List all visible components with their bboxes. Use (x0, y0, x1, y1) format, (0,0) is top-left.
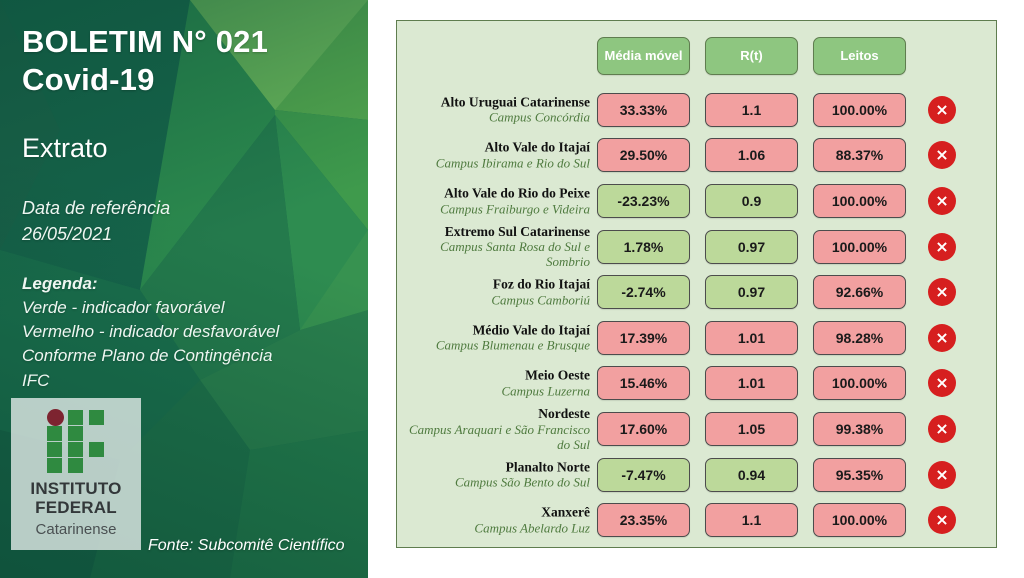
cell-media-movel[interactable]: 33.33% (597, 93, 690, 127)
cell-leitos[interactable]: 100.00% (813, 184, 906, 218)
table-row: Extremo Sul CatarinenseCampus Santa Rosa… (397, 224, 998, 270)
table-row: Alto Vale do ItajaíCampus Ibirama e Rio … (397, 133, 998, 179)
region-campus: Campus Camboriú (398, 292, 590, 307)
region-label: Alto Vale do ItajaíCampus Ibirama e Rio … (398, 140, 590, 171)
ifc-logo-square (68, 426, 83, 441)
x-circle-icon[interactable] (928, 369, 956, 397)
table-row: NordesteCampus Araquari e São Francisco … (397, 406, 998, 452)
x-circle-icon[interactable] (928, 278, 956, 306)
slide-root: BOLETIM N° 021 Covid-19 Extrato Data de … (0, 0, 1024, 578)
ifc-logo-square (89, 442, 104, 457)
column-header-leitos[interactable]: Leitos (813, 37, 906, 75)
region-campus: Campus Concórdia (398, 110, 590, 125)
ifc-logo-text-catarinense: Catarinense (36, 521, 117, 538)
region-name: Xanxerê (398, 505, 590, 521)
cell-leitos[interactable]: 98.28% (813, 321, 906, 355)
table-row-inner: Extremo Sul CatarinenseCampus Santa Rosa… (397, 224, 998, 270)
ifc-logo-square (68, 442, 83, 457)
region-name: Médio Vale do Itajaí (398, 322, 590, 338)
table-row: Foz do Rio ItajaíCampus Camboriú-2.74%0.… (397, 269, 998, 315)
region-name: Extremo Sul Catarinense (398, 224, 590, 240)
table-row-inner: Planalto NorteCampus São Bento do Sul-7.… (397, 452, 998, 498)
region-campus: Campus Fraiburgo e Videira (398, 201, 590, 216)
cell-leitos[interactable]: 100.00% (813, 230, 906, 264)
cell-media-movel[interactable]: 17.39% (597, 321, 690, 355)
x-circle-icon[interactable] (928, 415, 956, 443)
cell-leitos[interactable]: 100.00% (813, 93, 906, 127)
cell-rt[interactable]: 0.9 (705, 184, 798, 218)
column-header-rt[interactable]: R(t) (705, 37, 798, 75)
table-row-inner: Médio Vale do ItajaíCampus Blumenau e Br… (397, 315, 998, 361)
x-circle-icon[interactable] (928, 461, 956, 489)
table-row-inner: Alto Vale do ItajaíCampus Ibirama e Rio … (397, 133, 998, 179)
sidebar: BOLETIM N° 021 Covid-19 Extrato Data de … (0, 0, 368, 578)
table-row: Médio Vale do ItajaíCampus Blumenau e Br… (397, 315, 998, 361)
ifc-logo-square (47, 426, 62, 441)
cell-rt[interactable]: 0.94 (705, 458, 798, 492)
cell-media-movel[interactable]: 29.50% (597, 138, 690, 172)
region-name: Foz do Rio Itajaí (398, 277, 590, 293)
reference-date-block: Data de referência 26/05/2021 (22, 196, 170, 247)
region-name: Alto Vale do Itajaí (398, 140, 590, 156)
cell-leitos[interactable]: 100.00% (813, 503, 906, 537)
region-label: Alto Uruguai CatarinenseCampus Concórdia (398, 94, 590, 125)
cell-media-movel[interactable]: -2.74% (597, 275, 690, 309)
source-note: Fonte: Subcomitê Científico (148, 537, 345, 555)
cell-media-movel[interactable]: -23.23% (597, 184, 690, 218)
table-body: Alto Uruguai CatarinenseCampus Concórdia… (397, 87, 998, 543)
table-header-row: Média móvel R(t) Leitos (397, 21, 998, 85)
table-row-inner: Meio OesteCampus Luzerna15.46%1.01100.00… (397, 361, 998, 407)
legend-line-green: Verde - indicador favorável (22, 296, 279, 320)
ifc-logo-dot-icon (47, 409, 64, 426)
region-label: Médio Vale do ItajaíCampus Blumenau e Br… (398, 322, 590, 353)
table-row-inner: Alto Vale do Rio do PeixeCampus Fraiburg… (397, 178, 998, 224)
region-label: Extremo Sul CatarinenseCampus Santa Rosa… (398, 224, 590, 270)
cell-leitos[interactable]: 99.38% (813, 412, 906, 446)
cell-media-movel[interactable]: 23.35% (597, 503, 690, 537)
region-campus: Campus Blumenau e Brusque (398, 338, 590, 353)
cell-rt[interactable]: 0.97 (705, 230, 798, 264)
region-label: NordesteCampus Araquari e São Francisco … (398, 406, 590, 452)
cell-media-movel[interactable]: 1.78% (597, 230, 690, 264)
ifc-logo-square (68, 410, 83, 425)
region-name: Meio Oeste (398, 368, 590, 384)
bulletin-subtitle: Extrato (22, 133, 108, 164)
cell-rt[interactable]: 1.01 (705, 321, 798, 355)
table-row: Meio OesteCampus Luzerna15.46%1.01100.00… (397, 361, 998, 407)
legend-title: Legenda: (22, 272, 279, 296)
cell-leitos[interactable]: 88.37% (813, 138, 906, 172)
cell-rt[interactable]: 1.01 (705, 366, 798, 400)
bulletin-title-line1: BOLETIM N° 021 (22, 24, 268, 59)
reference-date-value: 26/05/2021 (22, 222, 170, 248)
ifc-logo-square (47, 458, 62, 473)
ifc-logo-square (89, 410, 104, 425)
region-campus: Campus Ibirama e Rio do Sul (398, 156, 590, 171)
ifc-logo-square (47, 442, 62, 457)
bulletin-title: BOLETIM N° 021 Covid-19 (22, 23, 268, 100)
x-circle-icon[interactable] (928, 141, 956, 169)
region-campus: Campus Luzerna (398, 384, 590, 399)
x-circle-icon[interactable] (928, 506, 956, 534)
region-label: XanxerêCampus Abelardo Luz (398, 505, 590, 536)
cell-media-movel[interactable]: 15.46% (597, 366, 690, 400)
bulletin-title-line2: Covid-19 (22, 61, 268, 99)
region-label: Alto Vale do Rio do PeixeCampus Fraiburg… (398, 186, 590, 217)
cell-leitos[interactable]: 100.00% (813, 366, 906, 400)
ifc-logo-text-instituto: INSTITUTO (30, 480, 121, 497)
region-campus: Campus Abelardo Luz (398, 520, 590, 535)
region-campus: Campus São Bento do Sul (398, 475, 590, 490)
reference-date-label: Data de referência (22, 196, 170, 222)
cell-media-movel[interactable]: -7.47% (597, 458, 690, 492)
table-row: XanxerêCampus Abelardo Luz23.35%1.1100.0… (397, 497, 998, 543)
legend-line-ifc: IFC (22, 369, 279, 393)
x-circle-icon[interactable] (928, 187, 956, 215)
cell-leitos[interactable]: 95.35% (813, 458, 906, 492)
ifc-logo-text-federal: FEDERAL (35, 499, 117, 516)
cell-rt[interactable]: 1.1 (705, 93, 798, 127)
table-row: Alto Vale do Rio do PeixeCampus Fraiburg… (397, 178, 998, 224)
region-name: Alto Uruguai Catarinense (398, 94, 590, 110)
cell-rt[interactable]: 1.05 (705, 412, 798, 446)
table-row-inner: XanxerêCampus Abelardo Luz23.35%1.1100.0… (397, 497, 998, 543)
x-circle-icon[interactable] (928, 233, 956, 261)
region-name: Planalto Norte (398, 459, 590, 475)
x-circle-icon[interactable] (928, 96, 956, 124)
region-label: Meio OesteCampus Luzerna (398, 368, 590, 399)
legend-line-plan: Conforme Plano de Contingência (22, 344, 279, 368)
ifc-logo-square (68, 458, 83, 473)
region-label: Foz do Rio ItajaíCampus Camboriú (398, 277, 590, 308)
cell-media-movel[interactable]: 17.60% (597, 412, 690, 446)
region-label: Planalto NorteCampus São Bento do Sul (398, 459, 590, 490)
table-row-inner: NordesteCampus Araquari e São Francisco … (397, 406, 998, 452)
legend-block: Legenda: Verde - indicador favorável Ver… (22, 272, 279, 393)
table-row: Alto Uruguai CatarinenseCampus Concórdia… (397, 87, 998, 133)
table-row: Planalto NorteCampus São Bento do Sul-7.… (397, 452, 998, 498)
ifc-logo-mark (47, 409, 105, 472)
cell-rt[interactable]: 0.97 (705, 275, 798, 309)
table-row-inner: Foz do Rio ItajaíCampus Camboriú-2.74%0.… (397, 269, 998, 315)
region-name: Alto Vale do Rio do Peixe (398, 186, 590, 202)
cell-leitos[interactable]: 92.66% (813, 275, 906, 309)
indicators-panel: Média móvel R(t) Leitos Alto Uruguai Cat… (396, 20, 997, 548)
legend-line-red: Vermelho - indicador desfavorável (22, 320, 279, 344)
table-row-inner: Alto Uruguai CatarinenseCampus Concórdia… (397, 87, 998, 133)
x-circle-icon[interactable] (928, 324, 956, 352)
ifc-logo: INSTITUTO FEDERAL Catarinense (11, 398, 141, 550)
column-header-media-movel[interactable]: Média móvel (597, 37, 690, 75)
region-campus: Campus Araquari e São Francisco do Sul (398, 422, 590, 452)
cell-rt[interactable]: 1.06 (705, 138, 798, 172)
region-name: Nordeste (398, 406, 590, 422)
region-campus: Campus Santa Rosa do Sul e Sombrio (398, 239, 590, 269)
cell-rt[interactable]: 1.1 (705, 503, 798, 537)
